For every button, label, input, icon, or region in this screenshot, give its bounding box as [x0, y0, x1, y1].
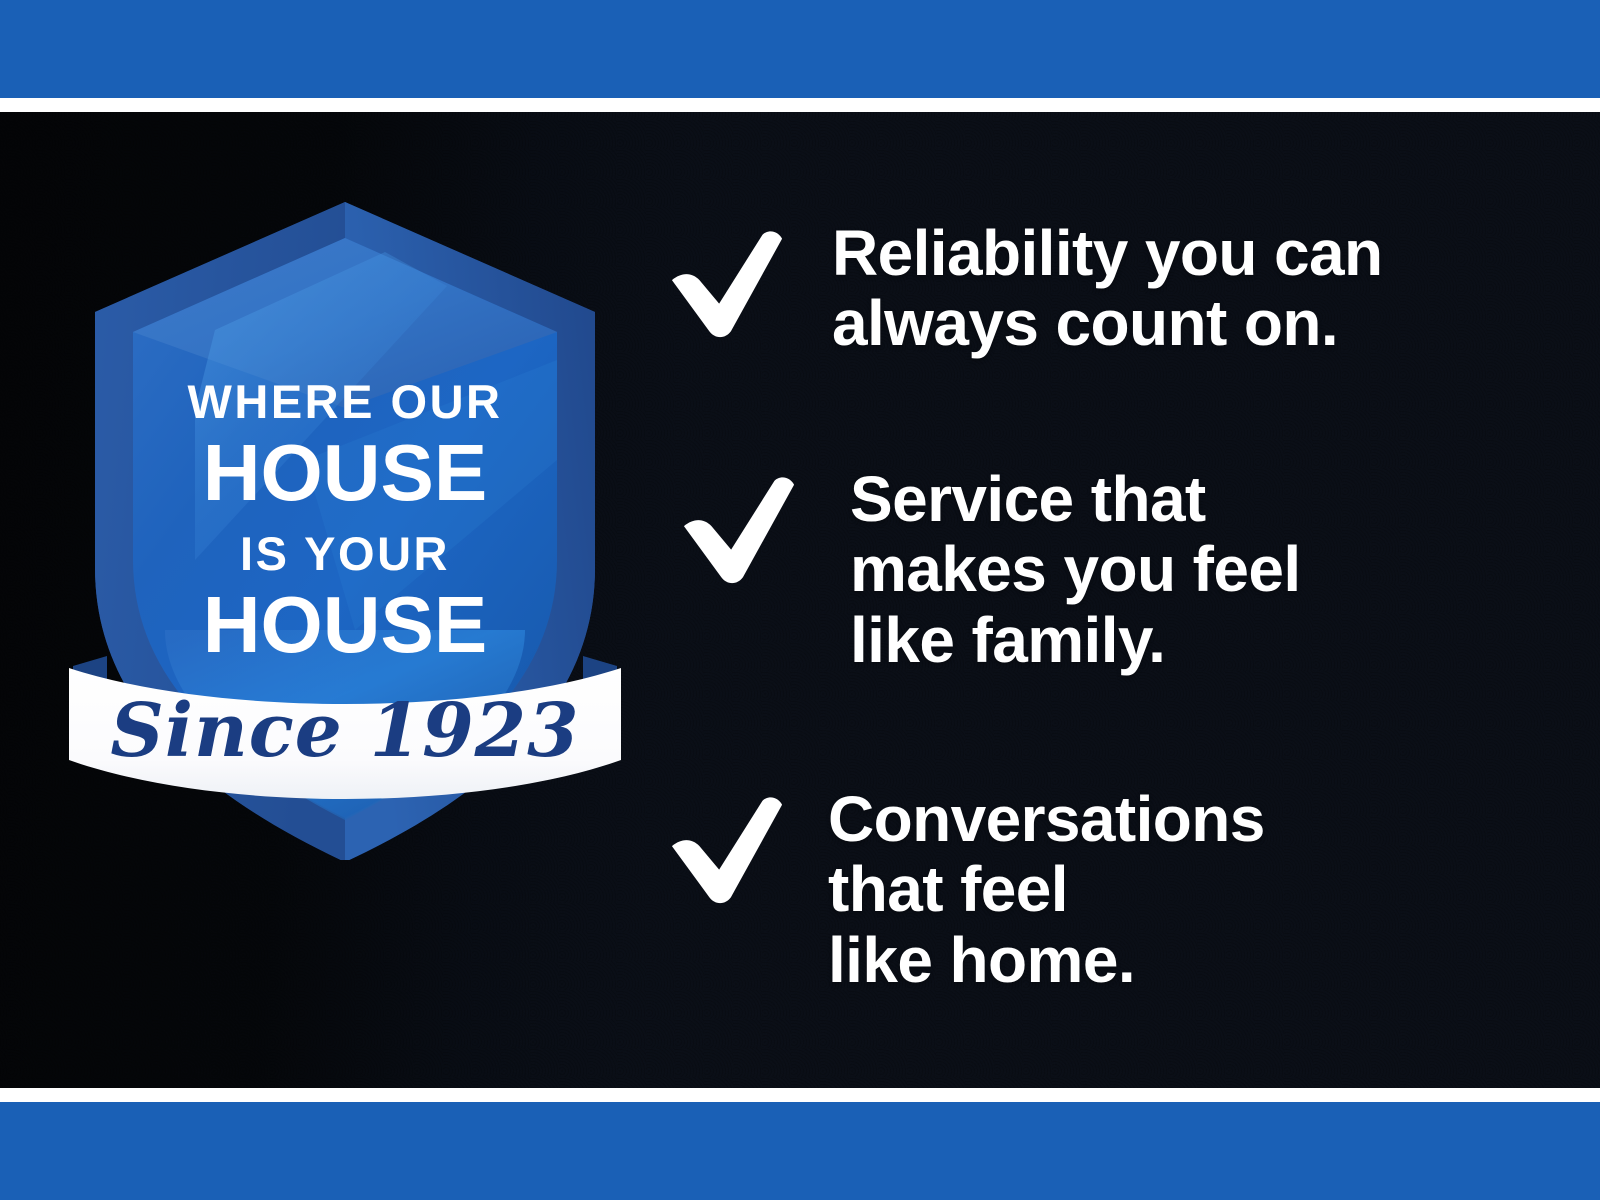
checkmark-icon [680, 474, 808, 586]
list-item: Conversations that feel like home. [668, 784, 1265, 995]
bottom-white-divider [0, 1088, 1600, 1102]
bottom-brand-band [0, 1102, 1600, 1200]
top-white-divider [0, 98, 1600, 112]
shield-emblem: WHERE OUR HOUSE IS YOUR HOUSE Since 1923 [55, 160, 635, 860]
list-item: Service that makes you feel like family. [680, 464, 1301, 675]
list-item-text: Service that makes you feel like family. [850, 464, 1301, 675]
ribbon-text: Since 1923 [110, 688, 579, 774]
top-brand-band [0, 0, 1600, 98]
benefits-list: Reliability you can always count on. Ser… [668, 112, 1588, 1088]
list-item-text: Reliability you can always count on. [832, 218, 1383, 359]
emblem-line-3: IS YOUR [240, 527, 450, 580]
emblem-line-1: WHERE OUR [188, 375, 503, 428]
list-item: Reliability you can always count on. [668, 218, 1383, 359]
list-item-text: Conversations that feel like home. [828, 784, 1265, 995]
promo-graphic: WHERE OUR HOUSE IS YOUR HOUSE Since 1923… [0, 0, 1600, 1200]
emblem-line-4: HOUSE [203, 580, 488, 669]
checkmark-icon [668, 794, 796, 906]
checkmark-icon [668, 228, 796, 340]
emblem-line-2: HOUSE [203, 428, 488, 517]
